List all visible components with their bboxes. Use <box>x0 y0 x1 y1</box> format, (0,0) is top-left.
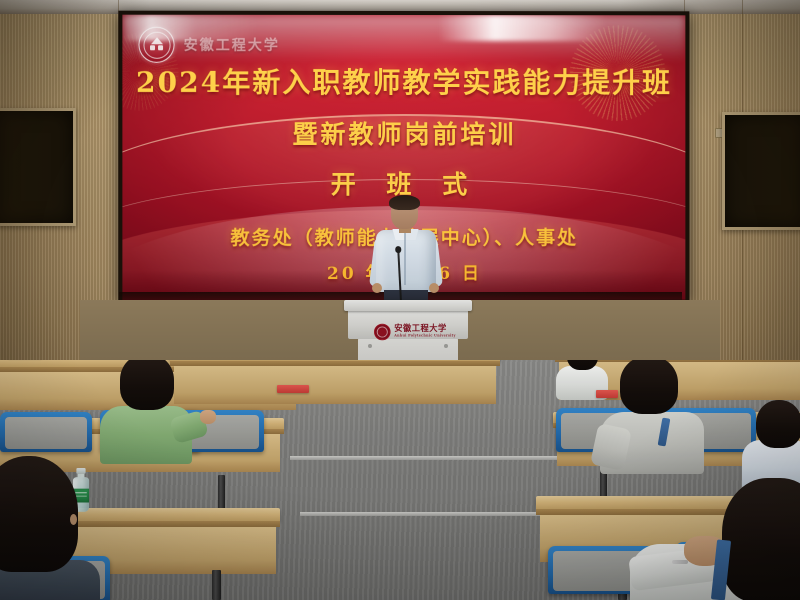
attendee-green-shirt <box>88 360 218 464</box>
banner-title-line-2: 暨新教师岗前培训 <box>292 115 516 151</box>
speaker-hair <box>389 195 420 210</box>
podium-university-name-en: Anhui Polytechnic University <box>394 335 455 338</box>
speaker-hand-right <box>429 283 439 293</box>
name-card <box>277 385 309 393</box>
speaker-hand-left <box>372 283 382 293</box>
ceiling-light-reflection <box>122 15 685 42</box>
desk-leg <box>212 570 221 600</box>
attendee-blue-shirt <box>740 400 800 490</box>
chair[interactable] <box>0 412 92 452</box>
podium-logo: 安徽工程大学 Anhui Polytechnic University <box>374 324 456 341</box>
podium-knob <box>368 344 372 348</box>
desk-row1-center <box>170 360 500 404</box>
university-seal-icon <box>374 324 391 341</box>
podium-knob <box>444 344 448 348</box>
lecture-hall-photo: 安徽工程大学 2024年新入职教师教学实践能力提升班 暨新教师岗前培训 开 班 … <box>0 0 800 600</box>
speaker-person <box>372 197 440 305</box>
aisle-step <box>300 512 550 516</box>
attendee-woman-white <box>630 478 800 600</box>
attendee-gray-shirt <box>592 360 732 474</box>
speaker-shirt-placket <box>404 233 406 285</box>
podium-desktop <box>344 300 472 311</box>
banner-title-line-1: 2024年新入职教师教学实践能力提升班 <box>136 61 672 101</box>
attendee-front-left <box>0 456 124 600</box>
podium-front-panel: 安徽工程大学 Anhui Polytechnic University <box>348 309 468 339</box>
audience-seating-area <box>0 360 800 600</box>
aisle-step <box>290 456 560 460</box>
